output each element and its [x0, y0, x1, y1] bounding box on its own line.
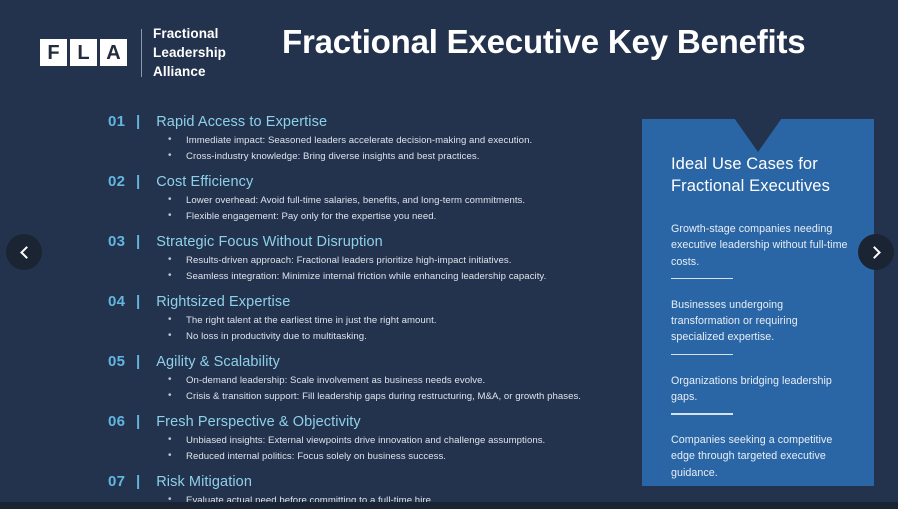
carousel-prev-button[interactable] [6, 234, 42, 270]
benefit-point: The right talent at the earliest time in… [168, 313, 628, 329]
use-case-item: Companies seeking a competitive edge thr… [671, 418, 849, 494]
benefit-number: 03 [108, 233, 134, 250]
benefit-points: On-demand leadership: Scale involvement … [168, 373, 628, 404]
benefit-title: Agility & Scalability [156, 354, 280, 370]
benefit-point: Cross-industry knowledge: Bring diverse … [168, 149, 628, 165]
benefit-point: No loss in productivity due to multitask… [168, 329, 628, 345]
benefit-number: 02 [108, 173, 134, 190]
benefit-points: Immediate impact: Seasoned leaders accel… [168, 133, 628, 164]
logo-wordmark-line-2: Leadership [153, 43, 226, 62]
use-case-item: Organizations bridging leadership gaps. [671, 359, 849, 419]
benefit-item-01: 01 | Rapid Access to Expertise Immediate… [108, 113, 628, 164]
benefit-item-02: 02 | Cost Efficiency Lower overhead: Avo… [108, 173, 628, 224]
logo-square-f: F [40, 39, 67, 66]
benefit-points: Unbiased insights: External viewpoints d… [168, 433, 628, 464]
benefit-title: Rapid Access to Expertise [156, 114, 327, 130]
brand-logo: F L A Fractional Leadership Alliance [40, 24, 226, 81]
logo-wordmark-line-3: Alliance [153, 62, 226, 81]
benefit-heading: 05 | Agility & Scalability [108, 353, 628, 370]
benefit-point: Unbiased insights: External viewpoints d… [168, 433, 628, 449]
benefit-number: 05 [108, 353, 134, 370]
benefit-point: Immediate impact: Seasoned leaders accel… [168, 133, 628, 149]
benefit-points: Results-driven approach: Fractional lead… [168, 253, 628, 284]
benefit-item-04: 04 | Rightsized Expertise The right tale… [108, 293, 628, 344]
slide-canvas: F L A Fractional Leadership Alliance Fra… [0, 0, 898, 509]
benefit-separator: | [136, 233, 140, 250]
ideal-use-cases-panel: Ideal Use Cases for Fractional Executive… [642, 119, 874, 486]
benefit-point: Results-driven approach: Fractional lead… [168, 253, 628, 269]
use-cases-list: Growth-stage companies needing executive… [671, 221, 849, 494]
benefit-points: The right talent at the earliest time in… [168, 313, 628, 344]
benefit-point: Seamless integration: Minimize internal … [168, 269, 628, 285]
benefit-point: Crisis & transition support: Fill leader… [168, 389, 628, 405]
logo-wordmark-line-1: Fractional [153, 24, 226, 43]
logo-wordmark: Fractional Leadership Alliance [153, 24, 226, 81]
logo-divider [141, 29, 142, 77]
benefit-point: Lower overhead: Avoid full-time salaries… [168, 193, 628, 209]
benefit-separator: | [136, 293, 140, 310]
benefit-heading: 02 | Cost Efficiency [108, 173, 628, 190]
benefit-heading: 07 | Risk Mitigation [108, 473, 628, 490]
benefit-point: Flexible engagement: Pay only for the ex… [168, 209, 628, 225]
chevron-right-icon [868, 246, 881, 259]
benefit-number: 06 [108, 413, 134, 430]
chevron-left-icon [20, 246, 33, 259]
logo-square-l: L [70, 39, 97, 66]
benefit-heading: 06 | Fresh Perspective & Objectivity [108, 413, 628, 430]
bottom-strip [0, 502, 898, 509]
use-case-item: Growth-stage companies needing executive… [671, 221, 849, 283]
carousel-next-button[interactable] [858, 234, 894, 270]
benefit-separator: | [136, 413, 140, 430]
benefit-title: Rightsized Expertise [156, 294, 290, 310]
benefit-separator: | [136, 113, 140, 130]
benefit-points: Lower overhead: Avoid full-time salaries… [168, 193, 628, 224]
benefit-item-03: 03 | Strategic Focus Without Disruption … [108, 233, 628, 284]
benefit-heading: 03 | Strategic Focus Without Disruption [108, 233, 628, 250]
benefit-title: Risk Mitigation [156, 474, 252, 490]
benefit-title: Cost Efficiency [156, 174, 253, 190]
benefits-list: 01 | Rapid Access to Expertise Immediate… [108, 113, 628, 509]
benefit-item-06: 06 | Fresh Perspective & Objectivity Unb… [108, 413, 628, 464]
benefit-point: On-demand leadership: Scale involvement … [168, 373, 628, 389]
benefit-heading: 01 | Rapid Access to Expertise [108, 113, 628, 130]
page-title: Fractional Executive Key Benefits [282, 23, 805, 61]
use-case-item: Businesses undergoing transformation or … [671, 283, 849, 359]
logo-letter-marks: F L A [40, 39, 127, 66]
benefit-separator: | [136, 353, 140, 370]
use-cases-title: Ideal Use Cases for Fractional Executive… [671, 153, 851, 198]
logo-square-a: A [100, 39, 127, 66]
benefit-number: 04 [108, 293, 134, 310]
benefit-separator: | [136, 173, 140, 190]
benefit-number: 07 [108, 473, 134, 490]
slide-header: F L A Fractional Leadership Alliance Fra… [0, 0, 898, 100]
benefit-point: Reduced internal politics: Focus solely … [168, 449, 628, 465]
benefit-title: Strategic Focus Without Disruption [156, 234, 383, 250]
benefit-title: Fresh Perspective & Objectivity [156, 414, 361, 430]
benefit-number: 01 [108, 113, 134, 130]
benefit-item-05: 05 | Agility & Scalability On-demand lea… [108, 353, 628, 404]
benefit-heading: 04 | Rightsized Expertise [108, 293, 628, 310]
benefit-separator: | [136, 473, 140, 490]
